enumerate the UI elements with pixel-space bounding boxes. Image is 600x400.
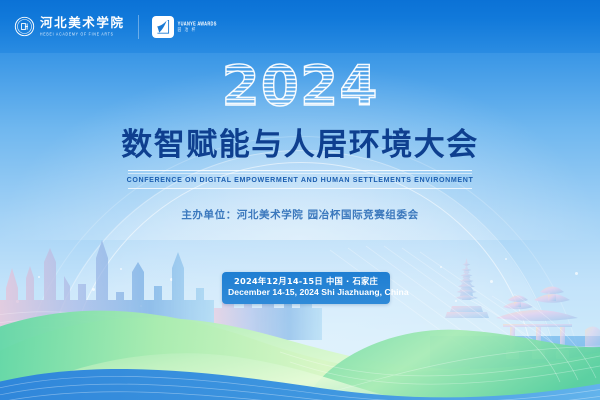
- bottom-wave: [0, 369, 600, 400]
- wave-lines-right: [470, 294, 596, 382]
- logo-divider: [138, 15, 139, 39]
- date-badge-en: December 14-15, 2024 Shi Jiazhuang, Chin…: [228, 287, 384, 299]
- logo-yuanye-en: YUANYE AWARDS: [178, 20, 217, 27]
- pagoda-silhouette: [445, 258, 489, 318]
- logo-yuanye-awards[interactable]: YUANYE AWARDS 园 冶 杯: [152, 16, 217, 38]
- logo-hebei-academy-text: 河北美术学院 HEBEI ACADEMY OF FINE ARTS: [40, 17, 125, 36]
- green-hill-left: [0, 311, 470, 400]
- logo-yuanye-cn: 园 冶 杯: [178, 27, 217, 33]
- logo-hebei-academy-cn: 河北美术学院: [40, 17, 125, 30]
- year-2024-striped: 2024 2024: [212, 58, 388, 118]
- year-outline: 2024: [221, 58, 378, 118]
- wave-lines: [0, 376, 600, 400]
- green-hill-right: [300, 330, 600, 400]
- green-hill-front: [0, 353, 430, 400]
- hill-contours: [280, 346, 600, 392]
- organizer-line: 主办单位：河北美术学院 园冶杯国际竞赛组委会: [0, 207, 600, 222]
- scenery-illustration: [0, 0, 600, 400]
- date-badge-cn: 2024年12月14-15日 中国 · 石家庄: [228, 276, 384, 287]
- contour-lines-left: [0, 312, 260, 368]
- title-rule-bottom: [128, 188, 472, 189]
- page-subtitle: CONFERENCE ON DIGITAL EMPOWERMENT AND HU…: [0, 176, 600, 184]
- conference-poster: 河北美术学院 HEBEI ACADEMY OF FINE ARTS YUANYE…: [0, 0, 600, 400]
- yuanye-swoosh-icon: [152, 16, 174, 38]
- chinese-gate-archway-silhouette: [496, 287, 600, 360]
- logo-yuanye-text: YUANYE AWARDS 园 冶 杯: [178, 21, 217, 32]
- logo-group: 河北美术学院 HEBEI ACADEMY OF FINE ARTS YUANYE…: [0, 15, 217, 39]
- year-heading: 2024 2024: [0, 55, 600, 121]
- sparkle-field: [0, 0, 600, 400]
- green-hill-back: [0, 318, 600, 400]
- water-band: [430, 336, 600, 376]
- date-badge: 2024年12月14-15日 中国 · 石家庄 December 14-15, …: [222, 272, 390, 304]
- seal-emblem-icon: [14, 16, 35, 37]
- header-bar: 河北美术学院 HEBEI ACADEMY OF FINE ARTS YUANYE…: [0, 0, 600, 53]
- page-title: 数智赋能与人居环境大会: [0, 126, 600, 165]
- logo-hebei-academy-en: HEBEI ACADEMY OF FINE ARTS: [40, 33, 125, 37]
- logo-hebei-academy[interactable]: 河北美术学院 HEBEI ACADEMY OF FINE ARTS: [14, 16, 125, 37]
